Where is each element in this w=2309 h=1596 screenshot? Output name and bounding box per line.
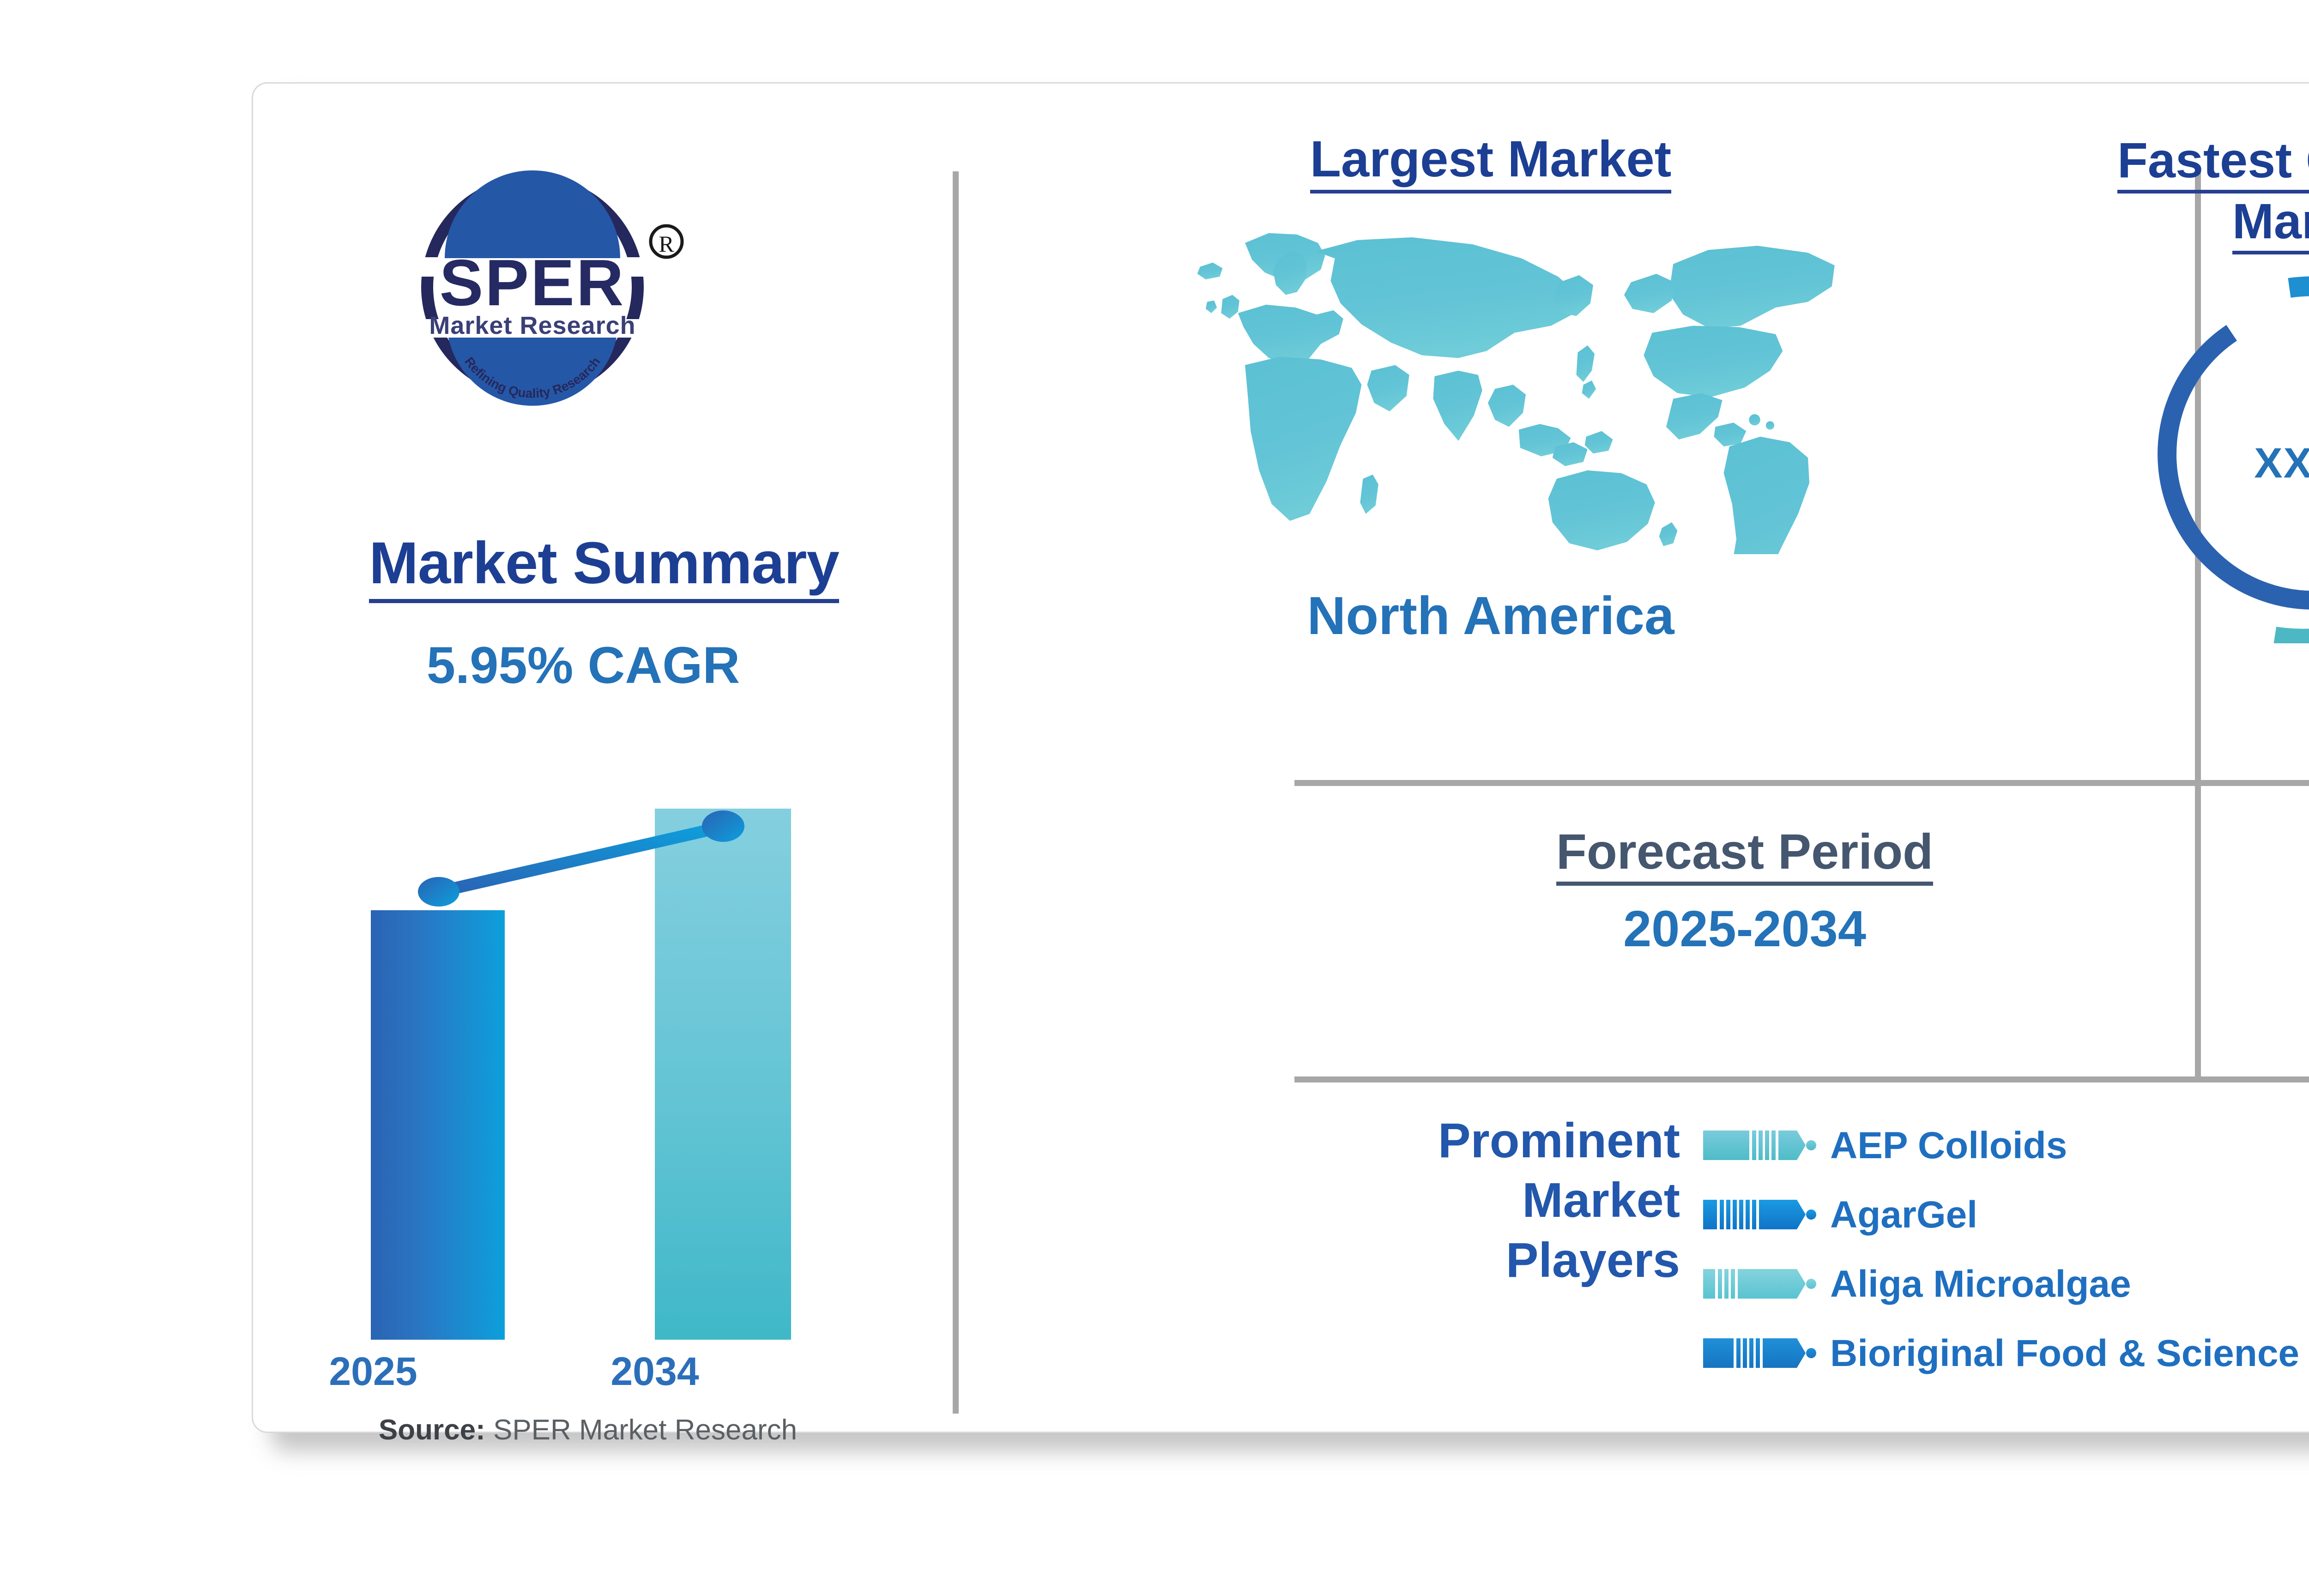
fastest-growing-ring-wrap: XXXX <box>1989 265 2309 653</box>
market-summary-panel: SPER Market Research Refining Quality Re… <box>253 84 955 1434</box>
x-label-2025: 2025 <box>276 1349 470 1395</box>
player-name: AgarGel <box>1830 1193 1977 1237</box>
fastest-growing-title-line2: Market <box>2232 193 2309 254</box>
svg-text:R: R <box>659 231 674 257</box>
market-summary-title-text: Market Summary <box>369 530 839 603</box>
fastest-growing-panel: Fastest Growing Market XXXX <box>1989 130 2309 776</box>
list-item: Bioriginal Food & Science Corp <box>1703 1319 2309 1388</box>
list-item: Aliga Microalgae <box>1703 1250 2309 1319</box>
vertical-divider-bottom <box>2195 783 2201 1079</box>
ribbon-arrow-icon <box>1703 1336 1816 1372</box>
list-item: AgarGel <box>1703 1180 2309 1250</box>
source-value: SPER Market Research <box>493 1414 797 1446</box>
fastest-growing-title: Fastest Growing Market <box>1989 130 2309 252</box>
prominent-players-heading: Prominent Market Players <box>1297 1111 1680 1290</box>
largest-market-panel: Largest Market <box>1043 130 1939 776</box>
world-map-icon <box>1140 212 1842 554</box>
right-panels: Largest Market <box>973 84 2309 1434</box>
base-year-panel: Base Year 2024 <box>2206 822 2309 1063</box>
cagr-value: 5.95% CAGR <box>253 635 913 695</box>
forecast-period-panel: Forecast Period 2025-2034 <box>1297 822 2193 1063</box>
trend-marker-2034 <box>702 810 744 842</box>
fastest-growing-title-line1: Fastest Growing <box>2117 132 2309 193</box>
players-list: AEP Colloids <box>1703 1111 2309 1388</box>
player-name: Bioriginal Food & Science Corp <box>1830 1332 2309 1375</box>
sper-logo: SPER Market Research Refining Quality Re… <box>371 167 722 407</box>
players-heading-line3: Players <box>1506 1233 1680 1288</box>
svg-text:SPER: SPER <box>440 246 626 320</box>
trend-marker-2025 <box>418 877 459 907</box>
x-label-2034: 2034 <box>558 1349 752 1395</box>
list-item: AEP Colloids <box>1703 1111 2309 1180</box>
largest-market-title: Largest Market <box>1043 130 1939 188</box>
chart-source: Source: SPER Market Research <box>253 1414 923 1446</box>
svg-text:Market Research: Market Research <box>429 312 635 339</box>
prominent-players-panel: Prominent Market Players <box>1297 1106 2309 1421</box>
trend-line <box>318 744 900 1340</box>
sper-logo-graphic: SPER Market Research Refining Quality Re… <box>371 167 722 407</box>
forecast-period-value: 2025-2034 <box>1297 900 2193 958</box>
infographic-card: SPER Market Research Refining Quality Re… <box>252 82 2309 1433</box>
largest-market-title-text: Largest Market <box>1310 131 1672 193</box>
players-heading-line2: Market <box>1522 1173 1680 1227</box>
largest-market-region: North America <box>1043 585 1939 647</box>
market-summary-title: Market Summary <box>253 529 955 597</box>
horizontal-divider-2 <box>1294 1076 2309 1082</box>
ribbon-arrow-icon <box>1703 1128 1816 1164</box>
ribbon-arrow-icon <box>1703 1266 1816 1302</box>
ribbon-arrow-icon <box>1703 1197 1816 1233</box>
base-year-title: Base Year <box>2206 822 2309 880</box>
base-year-value: 2024 <box>2206 900 2309 958</box>
player-name: Aliga Microalgae <box>1830 1263 2131 1306</box>
forecast-period-title: Forecast Period <box>1297 822 2193 880</box>
horizontal-divider-1 <box>1294 780 2309 786</box>
fastest-growing-value: XXXX <box>1989 439 2309 488</box>
players-heading-line1: Prominent <box>1438 1113 1680 1168</box>
market-size-bar-chart <box>318 744 900 1340</box>
vertical-divider-main <box>953 171 959 1414</box>
source-label: Source: <box>379 1414 485 1446</box>
forecast-period-title-text: Forecast Period <box>1556 823 1933 886</box>
player-name: AEP Colloids <box>1830 1124 2067 1167</box>
